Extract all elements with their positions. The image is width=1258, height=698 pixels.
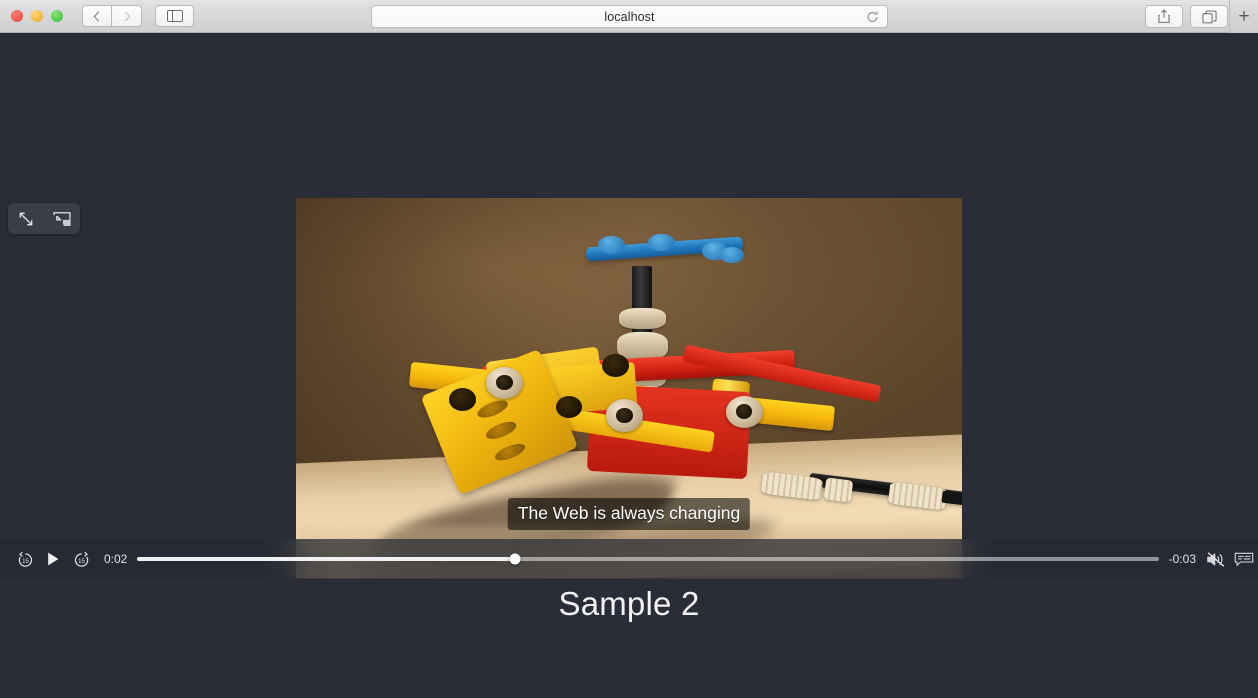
address-bar-text: localhost (604, 10, 654, 24)
reload-icon[interactable] (866, 10, 879, 23)
play-button[interactable] (39, 545, 67, 573)
sidebar-toggle-button[interactable] (155, 5, 194, 27)
lego-peg (606, 399, 643, 431)
axle-hole (449, 388, 476, 411)
video-control-bar: 15 15 0:02 -0:03 (0, 539, 1258, 579)
tab-overview-button[interactable] (1190, 5, 1228, 28)
rotor-knob (720, 247, 743, 263)
fullscreen-icon[interactable] (18, 211, 34, 227)
liftarm-hole (492, 440, 527, 464)
forward-button[interactable] (112, 5, 142, 27)
browser-toolbar: localhost + (0, 0, 1258, 33)
toolbar-right-buttons (1145, 5, 1228, 28)
svg-text:15: 15 (22, 557, 29, 564)
current-time-label: 0:02 (104, 552, 127, 566)
liftarm-hole (483, 418, 518, 442)
axle-hole (602, 354, 629, 377)
played-range (137, 557, 515, 561)
skip-forward-15-icon[interactable]: 15 (67, 545, 95, 573)
address-bar[interactable]: localhost (371, 5, 888, 28)
svg-text:15: 15 (78, 557, 85, 564)
seek-slider[interactable] (137, 557, 1158, 561)
navigation-buttons (82, 5, 142, 27)
minimize-window-button[interactable] (31, 10, 43, 22)
liftarm-hole (475, 397, 510, 421)
chevron-left-icon (94, 11, 104, 21)
lego-bushing (824, 478, 853, 503)
back-button[interactable] (82, 5, 112, 27)
floating-media-controls (8, 203, 80, 234)
sidebar-icon (167, 10, 183, 22)
remaining-time-label: -0:03 (1169, 552, 1196, 566)
chevron-right-icon (120, 11, 130, 21)
new-tab-button[interactable]: + (1229, 0, 1258, 33)
lego-blue-rotor (586, 232, 743, 266)
closed-captions-icon[interactable] (1230, 545, 1258, 573)
share-button[interactable] (1145, 5, 1183, 28)
close-window-button[interactable] (11, 10, 23, 22)
lego-bushing (619, 308, 666, 329)
picture-in-picture-icon[interactable] (53, 211, 71, 227)
window-traffic-lights (11, 10, 63, 22)
page-title: Sample 2 (0, 585, 1258, 623)
rotor-knob (598, 236, 625, 254)
page-content: The Web is always changing 15 15 0:02 (0, 33, 1258, 698)
video-caption: The Web is always changing (508, 498, 750, 530)
seek-handle[interactable] (510, 554, 521, 565)
mute-button[interactable] (1202, 545, 1230, 573)
zoom-window-button[interactable] (51, 10, 63, 22)
lego-peg (726, 396, 763, 428)
rotor-knob (648, 234, 675, 252)
video-player[interactable]: The Web is always changing (296, 198, 962, 578)
skip-back-15-icon[interactable]: 15 (11, 545, 39, 573)
